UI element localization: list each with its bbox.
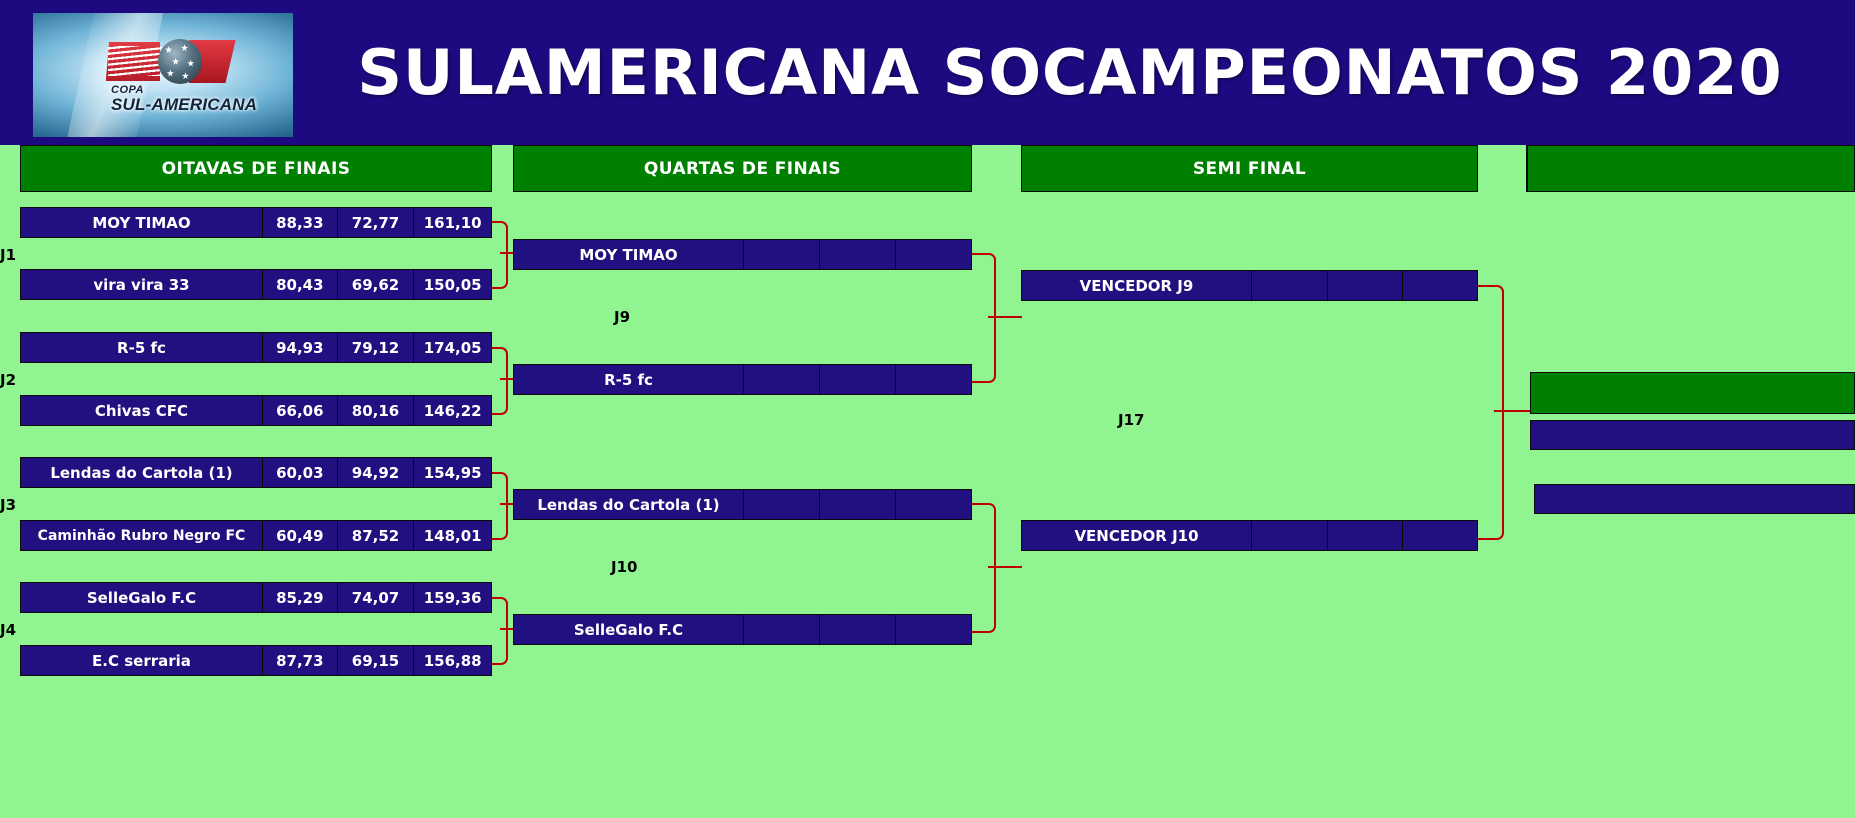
score-total — [1402, 271, 1477, 300]
score-2: 94,92 — [337, 458, 414, 487]
match-row[interactable]: Lendas do Cartola (1) — [513, 489, 972, 520]
final-slot-box-top — [1530, 420, 1855, 450]
match-label-j9: J9 — [614, 308, 630, 326]
bracket-connector-j10-out — [988, 566, 1022, 568]
match-label-j1: J1 — [0, 246, 16, 264]
score-1: 60,03 — [262, 458, 337, 487]
score-total: 154,95 — [413, 458, 491, 487]
match-row[interactable]: Lendas do Cartola (1) 60,03 94,92 154,95 — [20, 457, 492, 488]
match-row[interactable]: VENCEDOR J9 — [1021, 270, 1478, 301]
logo-text-sulamericana: SUL-AMERICANA — [111, 95, 257, 115]
match-label-j3: J3 — [0, 496, 16, 514]
match-row[interactable]: R-5 fc — [513, 364, 972, 395]
match-row[interactable]: VENCEDOR J10 — [1021, 520, 1478, 551]
score-2: 69,62 — [337, 270, 414, 299]
bracket-connector-j1-out — [500, 252, 514, 254]
team-name: Chivas CFC — [21, 396, 262, 425]
score-1 — [743, 240, 819, 269]
score-1: 85,29 — [262, 583, 337, 612]
score-total — [895, 615, 971, 644]
score-2 — [819, 615, 895, 644]
score-1 — [743, 615, 819, 644]
score-total: 159,36 — [413, 583, 491, 612]
score-1 — [743, 365, 819, 394]
bracket-connector-j4-out — [500, 628, 514, 630]
team-name: R-5 fc — [514, 365, 743, 394]
bracket-connector-j3-out — [500, 503, 514, 505]
round-header-final-partial-edge — [1527, 145, 1855, 192]
page-title: SULAMERICANA SOCAMPEONATOS 2020 — [300, 22, 1840, 122]
score-2 — [819, 490, 895, 519]
bracket-connector-j2 — [492, 347, 508, 415]
score-total: 146,22 — [413, 396, 491, 425]
copa-sul-americana-logo: COPA SUL-AMERICANA — [33, 13, 293, 137]
score-2: 69,15 — [337, 646, 414, 675]
logo-white-streaks — [108, 46, 165, 76]
score-2: 80,16 — [337, 396, 414, 425]
bracket-connector-j1 — [492, 221, 508, 289]
score-2: 74,07 — [337, 583, 414, 612]
score-1 — [1251, 271, 1327, 300]
title-banner: COPA SUL-AMERICANA SULAMERICANA SOCAMPEO… — [0, 0, 1855, 145]
bracket-connector-j3 — [492, 472, 508, 540]
team-name: VENCEDOR J9 — [1022, 271, 1251, 300]
team-name: Caminhão Rubro Negro FC — [21, 521, 262, 550]
final-slot-box-bottom — [1534, 484, 1855, 514]
team-name: SelleGalo F.C — [21, 583, 262, 612]
match-row[interactable]: SelleGalo F.C 85,29 74,07 159,36 — [20, 582, 492, 613]
bracket-connector-j17 — [1478, 285, 1504, 540]
score-total: 148,01 — [413, 521, 491, 550]
team-name: VENCEDOR J10 — [1022, 521, 1251, 550]
score-1 — [1251, 521, 1327, 550]
team-name: Lendas do Cartola (1) — [514, 490, 743, 519]
match-row[interactable]: SelleGalo F.C — [513, 614, 972, 645]
score-1: 80,43 — [262, 270, 337, 299]
team-name: vira vira 33 — [21, 270, 262, 299]
bracket-connector-j2-out — [500, 378, 514, 380]
score-1: 87,73 — [262, 646, 337, 675]
score-2 — [819, 240, 895, 269]
match-row[interactable]: MOY TIMAO 88,33 72,77 161,10 — [20, 207, 492, 238]
bracket-connector-j10 — [972, 503, 996, 633]
score-1: 60,49 — [262, 521, 337, 550]
score-2 — [819, 365, 895, 394]
match-row[interactable]: vira vira 33 80,43 69,62 150,05 — [20, 269, 492, 300]
logo-crest-icon — [106, 38, 236, 85]
team-name: MOY TIMAO — [21, 208, 262, 237]
bracket-connector-j4 — [492, 597, 508, 665]
score-2 — [1327, 271, 1402, 300]
round-bar-gap — [972, 145, 1021, 192]
team-name: Lendas do Cartola (1) — [21, 458, 262, 487]
score-2: 79,12 — [337, 333, 414, 362]
round-header-quartas: QUARTAS DE FINAIS — [513, 145, 972, 192]
bracket-connector-j9 — [972, 253, 996, 383]
soccer-ball-icon — [158, 39, 202, 84]
score-total — [895, 365, 971, 394]
score-total: 161,10 — [413, 208, 491, 237]
team-name: MOY TIMAO — [514, 240, 743, 269]
score-total: 156,88 — [413, 646, 491, 675]
score-1: 66,06 — [262, 396, 337, 425]
score-total — [895, 240, 971, 269]
bracket-connector-j17-out — [1494, 410, 1534, 412]
match-row[interactable]: E.C serraria 87,73 69,15 156,88 — [20, 645, 492, 676]
match-label-j17: J17 — [1118, 411, 1144, 429]
score-total: 150,05 — [413, 270, 491, 299]
match-label-j4: J4 — [0, 621, 16, 639]
match-label-j10: J10 — [611, 558, 637, 576]
final-slot-green-partial — [1530, 372, 1855, 414]
team-name: SelleGalo F.C — [514, 615, 743, 644]
score-total — [1402, 521, 1477, 550]
team-name: R-5 fc — [21, 333, 262, 362]
score-1: 94,93 — [262, 333, 337, 362]
match-row[interactable]: Caminhão Rubro Negro FC 60,49 87,52 148,… — [20, 520, 492, 551]
match-row[interactable]: Chivas CFC 66,06 80,16 146,22 — [20, 395, 492, 426]
score-2: 72,77 — [337, 208, 414, 237]
round-header-oitavas: OITAVAS DE FINAIS — [20, 145, 492, 192]
team-name: E.C serraria — [21, 646, 262, 675]
bracket-connector-j9-out — [988, 316, 1022, 318]
score-1: 88,33 — [262, 208, 337, 237]
match-label-j2: J2 — [0, 371, 16, 389]
score-1 — [743, 490, 819, 519]
round-bar-gap — [0, 145, 20, 192]
score-total: 174,05 — [413, 333, 491, 362]
score-total — [895, 490, 971, 519]
match-row[interactable]: R-5 fc 94,93 79,12 174,05 — [20, 332, 492, 363]
score-2: 87,52 — [337, 521, 414, 550]
round-header-semi: SEMI FINAL — [1021, 145, 1478, 192]
round-bar-gap — [1478, 145, 1526, 192]
match-row[interactable]: MOY TIMAO — [513, 239, 972, 270]
score-2 — [1327, 521, 1402, 550]
round-bar-gap — [492, 145, 513, 192]
